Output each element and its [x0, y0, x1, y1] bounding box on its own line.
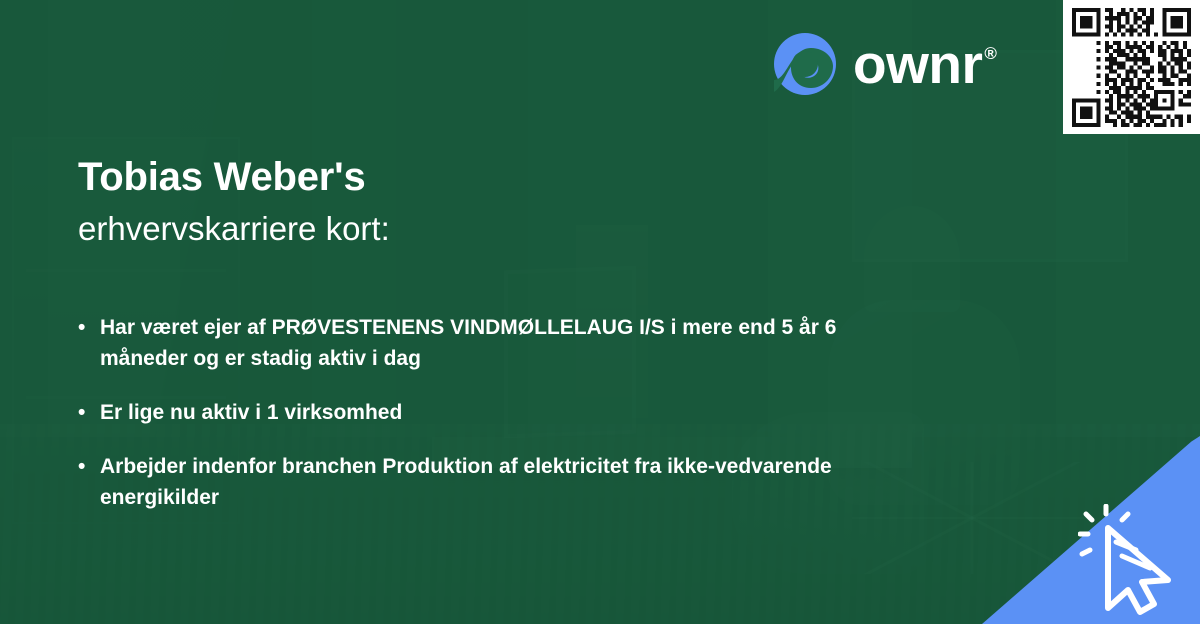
bullet-marker: •	[78, 312, 100, 343]
brand-logo[interactable]: ownr ®	[773, 32, 996, 96]
bullet-text: Har været ejer af PRØVESTENENS VINDMØLLE…	[100, 312, 900, 374]
list-item: • Er lige nu aktiv i 1 virksomhed	[78, 397, 938, 428]
bullet-marker: •	[78, 397, 100, 428]
qr-code-panel[interactable]	[1063, 0, 1200, 134]
list-item: • Har været ejer af PRØVESTENENS VINDMØL…	[78, 312, 938, 374]
ownr-circle-logo-icon	[773, 32, 837, 96]
brand-wordmark-text: ownr	[853, 37, 982, 92]
career-card: ownr ®	[0, 0, 1200, 624]
bullet-text: Er lige nu aktiv i 1 virksomhed	[100, 397, 402, 428]
brand-wordmark: ownr ®	[853, 37, 996, 92]
click-cursor-icon	[1078, 504, 1194, 616]
career-facts-list: • Har været ejer af PRØVESTENENS VINDMØL…	[78, 312, 938, 536]
bullet-text: Arbejder indenfor branchen Produktion af…	[100, 451, 900, 513]
qr-code-icon	[1072, 8, 1191, 127]
page-title: Tobias Weber's erhvervskarriere kort:	[78, 152, 390, 251]
title-line-2: erhvervskarriere kort:	[78, 207, 390, 251]
list-item: • Arbejder indenfor branchen Produktion …	[78, 451, 938, 513]
registered-trademark-symbol: ®	[984, 45, 996, 62]
bullet-marker: •	[78, 451, 100, 482]
title-line-1: Tobias Weber's	[78, 152, 390, 202]
